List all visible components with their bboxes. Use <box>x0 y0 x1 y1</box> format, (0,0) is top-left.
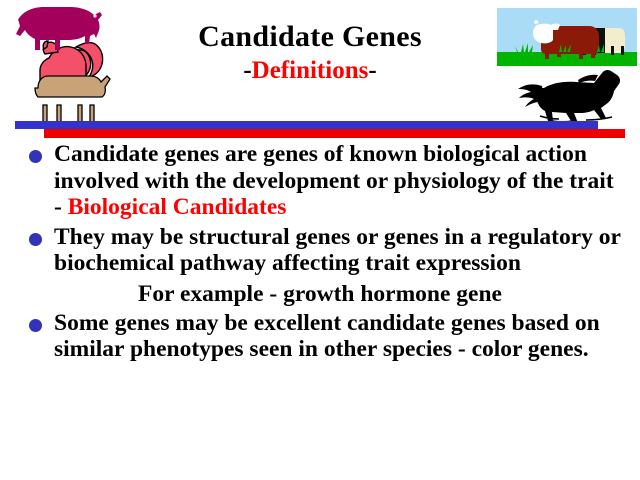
bullet-2-line-3: trait expression <box>365 250 521 276</box>
divider-bar-red <box>44 129 625 138</box>
bullet-2-text: They may be structural genes or genes in… <box>54 224 626 277</box>
bullet-dot-icon <box>29 319 42 332</box>
divider-bar-blue <box>15 121 598 129</box>
cow-icon <box>35 76 110 123</box>
bullet-3-line-1: Some genes may be excellent candidate <box>54 310 445 336</box>
slide-body: Candidate genes are genes of known biolo… <box>26 141 626 366</box>
page-subtitle: -Definitions- <box>120 58 500 83</box>
list-item: They may be structural genes or genes in… <box>26 224 626 277</box>
title-block: Candidate Genes -Definitions- <box>120 22 500 83</box>
bullet-3-line-3: other species - color genes. <box>324 336 589 362</box>
bullet-3-text: Some genes may be excellent candidate ge… <box>54 310 626 363</box>
subtitle-suffix-dash: - <box>368 57 376 84</box>
subtitle-highlight: Definitions <box>252 57 369 84</box>
bullet-1-line-4-highlight: Biological Candidates <box>68 194 287 220</box>
livestock-logo <box>2 2 120 128</box>
bullet-dot-icon <box>29 233 42 246</box>
galloping-horse <box>500 66 638 126</box>
bullet-dot-icon <box>29 150 42 163</box>
cattle-pasture-photo <box>497 8 637 66</box>
list-item: Candidate genes are genes of known biolo… <box>26 141 626 221</box>
photo-grass <box>497 52 637 66</box>
list-item: Some genes may be excellent candidate ge… <box>26 310 626 363</box>
slide-header: Candidate Genes -Definitions- <box>0 0 640 122</box>
page-title: Candidate Genes <box>120 22 500 52</box>
sub-line-example: For example - growth hormone gene <box>26 280 626 308</box>
horse-silhouette <box>518 70 620 124</box>
bullet-1-text: Candidate genes are genes of known biolo… <box>54 141 626 221</box>
bullet-1-line-1: Candidate genes are genes of known <box>54 141 417 167</box>
subtitle-prefix-dash: - <box>243 57 251 84</box>
bullet-2-line-1: They may be structural genes or genes in… <box>54 224 482 250</box>
slide-canvas: Candidate Genes -Definitions- <box>0 0 640 480</box>
